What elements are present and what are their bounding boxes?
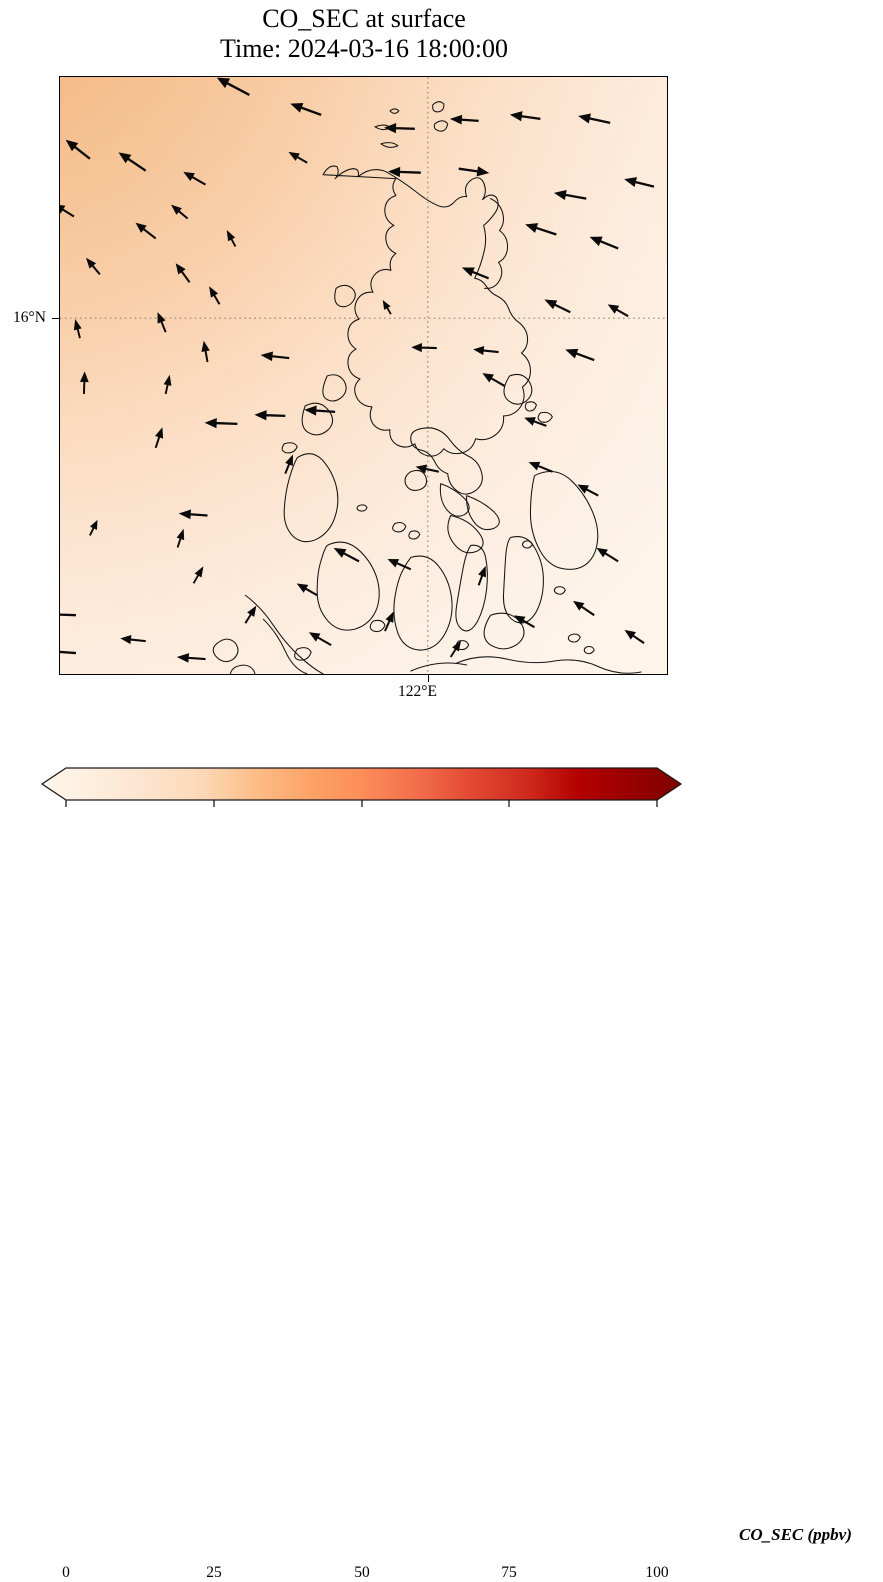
map-plot-area[interactable] [59,76,668,675]
colorbar-tick-100: 100 [645,1564,668,1582]
colorbar-gradient-bar [42,768,681,800]
colorbar-axis-label: CO_SEC (ppbv) [739,1525,852,1545]
map-canvas [60,77,667,674]
latitude-tick-16n [52,318,59,319]
longitude-label-122e: 122°E [398,683,437,701]
title-line-variable: CO_SEC at surface [0,4,728,34]
colorbar-tick-75: 75 [501,1564,517,1582]
colorbar[interactable]: 0 25 50 75 100 CO_SEC (ppbv) [0,758,883,836]
colorbar-tick-0: 0 [62,1564,70,1582]
co-concentration-field [60,77,667,674]
colorbar-ticks [66,800,657,807]
colorbar-canvas [0,758,883,836]
title-line-timestamp: Time: 2024-03-16 18:00:00 [0,34,728,64]
colorbar-tick-25: 25 [206,1564,222,1582]
longitude-tick-122e [428,675,429,682]
colorbar-tick-50: 50 [354,1564,370,1582]
figure-title: CO_SEC at surface Time: 2024-03-16 18:00… [0,4,728,65]
latitude-label-16n: 16°N [13,309,46,327]
